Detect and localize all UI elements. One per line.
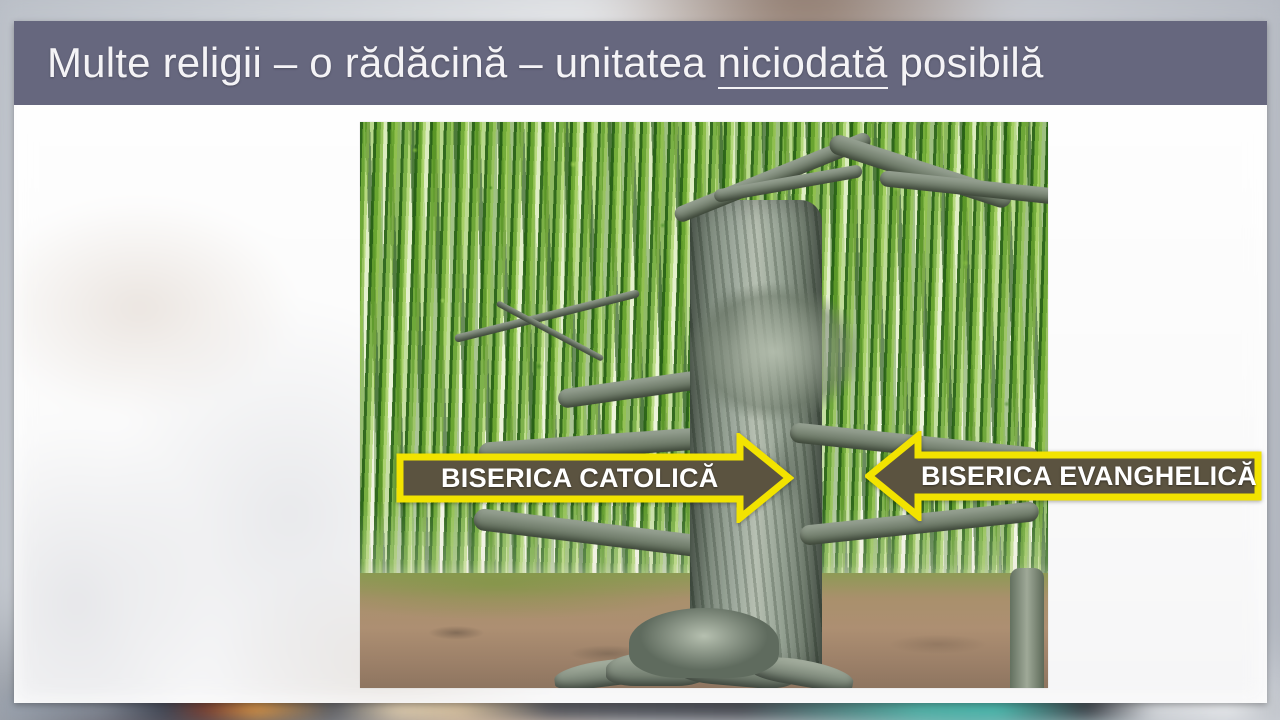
slide: Multe religii – o rădăcină – unitatea ni… xyxy=(14,21,1267,703)
tree-crown-fork xyxy=(674,272,874,432)
annotation-arrow-catolica: BISERICA CATOLICĂ xyxy=(395,433,794,523)
page-title: Multe religii – o rădăcină – unitatea ni… xyxy=(14,39,1044,87)
annotation-label-catolica: BISERICA CATOLICĂ xyxy=(441,433,719,523)
tree-roots xyxy=(554,592,854,688)
tree-photo xyxy=(360,122,1048,688)
background-tree-trunk xyxy=(1010,568,1044,688)
title-part-after: posibilă xyxy=(888,39,1044,86)
title-part-before: Multe religii – o rădăcină – unitatea xyxy=(47,39,718,86)
title-emphasis: niciodată xyxy=(718,39,888,89)
tree-root-flare xyxy=(629,608,779,678)
annotation-label-evanghelica: BISERICA EVANGHELICĂ xyxy=(921,431,1257,521)
annotation-arrow-evanghelica: BISERICA EVANGHELICĂ xyxy=(865,431,1263,521)
slide-title-bar: Multe religii – o rădăcină – unitatea ni… xyxy=(14,21,1267,105)
